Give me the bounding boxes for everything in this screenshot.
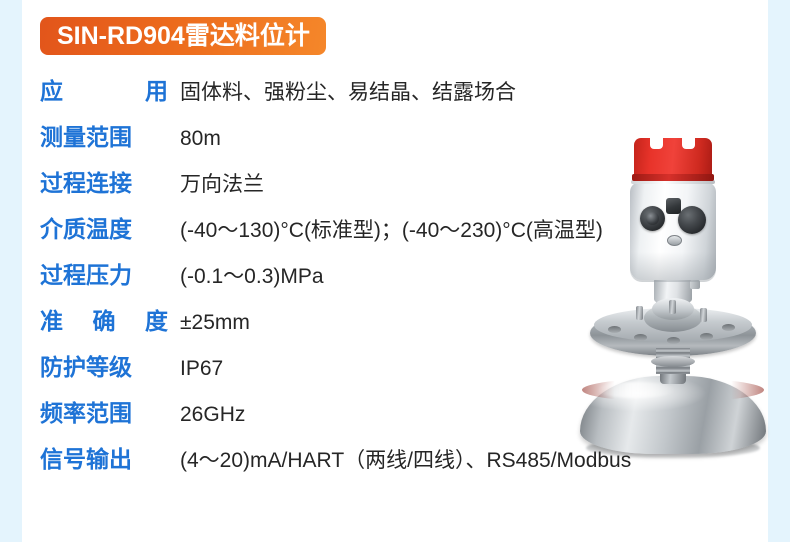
product-title-badge: SIN-RD904雷达料位计 xyxy=(40,17,326,55)
housing-nameplate-badge xyxy=(667,235,682,246)
spec-label-process-connection: 过程连接 xyxy=(40,164,175,198)
spec-row-application: 应 用 固体料、强粉尘、易结晶、结露场合 xyxy=(40,72,670,118)
spec-label-protection-class: 防护等级 xyxy=(40,348,175,382)
spec-label-application: 应 用 xyxy=(40,72,175,106)
flange-bolt-hole xyxy=(722,324,735,331)
antenna-highlight xyxy=(596,382,676,398)
cable-gland-port xyxy=(640,206,665,231)
housing-shading xyxy=(630,252,716,282)
cap-lip xyxy=(632,174,714,181)
spec-value-protection-class: IP67 xyxy=(175,357,223,381)
spec-label-application-text: 应 用 xyxy=(40,72,168,106)
spec-label-process-pressure: 过程压力 xyxy=(40,256,175,290)
spec-value-measuring-range: 80m xyxy=(175,127,221,151)
red-protective-cap xyxy=(634,138,712,178)
display-window-port xyxy=(678,206,706,234)
spec-label-signal-output: 信号输出 xyxy=(40,440,175,474)
spec-value-accuracy: ±25mm xyxy=(175,311,250,335)
flange-stud xyxy=(700,308,707,322)
cap-notch xyxy=(650,137,663,149)
left-edge-strip xyxy=(0,0,22,542)
spec-label-accuracy: 准 确 度 xyxy=(40,302,175,336)
flange-bolt-hole xyxy=(608,326,621,333)
flange-stud xyxy=(669,300,676,314)
spec-label-medium-temperature: 介质温度 xyxy=(40,210,175,244)
spec-value-signal-output: (4〜20)mA/HART（两线/四线）、RS485/Modbus xyxy=(175,444,631,474)
flange-bolt-hole xyxy=(667,337,680,344)
radar-level-meter-image xyxy=(572,120,772,450)
flange-bolt-hole xyxy=(700,333,713,340)
hex-plug xyxy=(666,198,681,214)
spec-value-medium-temperature: (-40〜130)°C(标准型)；(-40〜230)°C(高温型) xyxy=(175,214,603,244)
spec-value-frequency-range: 26GHz xyxy=(175,403,245,427)
antenna-stem-ring xyxy=(651,356,695,367)
flange-bolt-hole xyxy=(634,334,647,341)
spec-label-accuracy-text: 准 确 度 xyxy=(40,302,168,336)
spec-label-frequency-range: 频率范围 xyxy=(40,394,175,428)
spec-value-application: 固体料、强粉尘、易结晶、结露场合 xyxy=(175,76,516,106)
spec-value-process-pressure: (-0.1〜0.3)MPa xyxy=(175,260,324,290)
cap-notch xyxy=(682,137,695,149)
spec-label-measuring-range: 测量范围 xyxy=(40,118,175,152)
flange-stud xyxy=(636,306,643,320)
spec-value-process-connection: 万向法兰 xyxy=(175,168,264,198)
product-spec-page: SIN-RD904雷达料位计 应 用 固体料、强粉尘、易结晶、结露场合 测量范围… xyxy=(0,0,790,542)
